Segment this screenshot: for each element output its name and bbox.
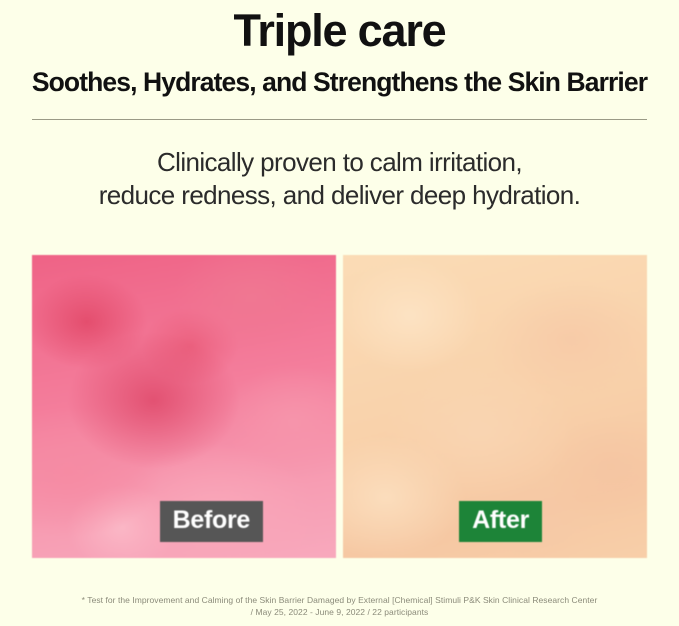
footnote-line-1: * Test for the Improvement and Calming o… bbox=[0, 594, 679, 606]
claim-text-line-2: reduce redness, and deliver deep hydrati… bbox=[0, 179, 679, 212]
product-claim-infographic: Triple care Soothes, Hydrates, and Stren… bbox=[0, 0, 679, 626]
footnote-line-2: / May 25, 2022 - June 9, 2022 / 22 parti… bbox=[0, 606, 679, 618]
after-image: After bbox=[343, 255, 647, 558]
page-subtitle: Soothes, Hydrates, and Strengthens the S… bbox=[0, 56, 679, 97]
before-after-comparison: Before After bbox=[32, 255, 647, 558]
headline-block: Triple care Soothes, Hydrates, and Stren… bbox=[0, 0, 679, 97]
after-badge: After bbox=[459, 501, 542, 542]
claim-text-line-1: Clinically proven to calm irritation, bbox=[0, 146, 679, 179]
before-badge: Before bbox=[160, 501, 263, 542]
claim-text: Clinically proven to calm irritation, re… bbox=[0, 120, 679, 213]
footnote: * Test for the Improvement and Calming o… bbox=[0, 594, 679, 619]
before-image: Before bbox=[32, 255, 336, 558]
page-title: Triple care bbox=[0, 4, 679, 56]
